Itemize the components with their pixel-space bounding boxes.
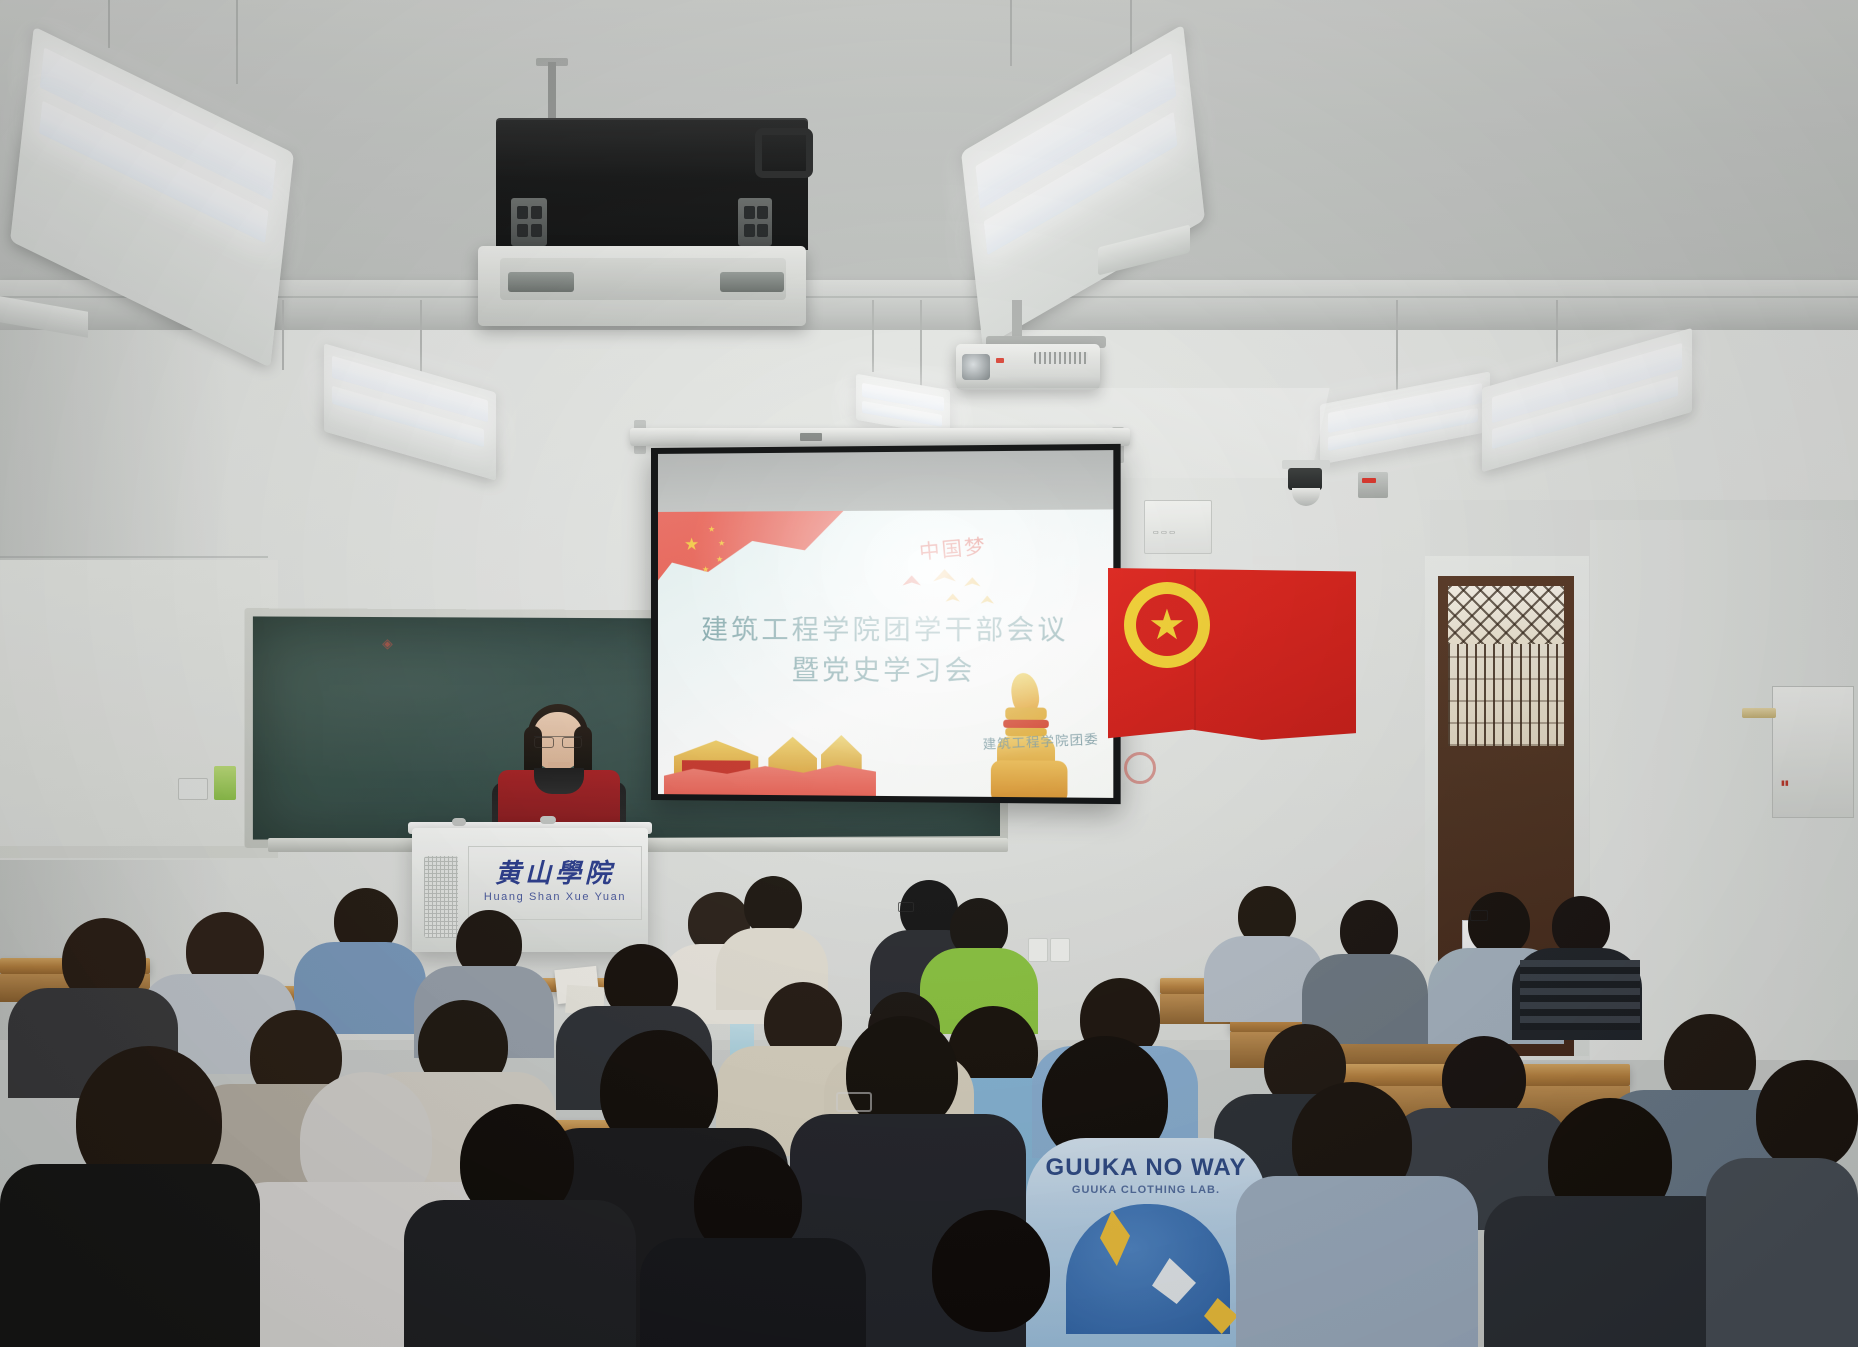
ceiling-seam: [0, 296, 1858, 298]
emblem-inner-disc: ★: [1136, 594, 1198, 656]
projector-lens: [962, 354, 990, 380]
projection-screen-surface: ★ ★ ★ ★ ★ 中国梦: [658, 450, 1113, 798]
door-security-grill: [1448, 586, 1564, 644]
dove-icon: [981, 596, 994, 604]
slide-motto: 中国梦: [918, 530, 988, 565]
light-switch-plate[interactable]: [178, 778, 208, 800]
projection-screen[interactable]: ★ ★ ★ ★ ★ 中国梦: [651, 444, 1121, 804]
wall-seam-left: [0, 556, 268, 558]
power-strip: [511, 198, 547, 246]
dove-icon: [903, 575, 921, 585]
lectern-knob[interactable]: [540, 816, 556, 824]
audience-head: [1468, 892, 1530, 956]
lamp-wire: [1010, 0, 1012, 66]
hoodie-text-line1: GUUKA NO WAY: [1026, 1154, 1266, 1182]
alarm-led-icon: [1362, 478, 1376, 483]
eyeglasses-icon: [836, 1092, 872, 1112]
power-strip-secondary: [738, 198, 772, 246]
roller-badge: [800, 433, 822, 441]
left-wall-panel: [0, 560, 278, 860]
dove-icon: [946, 594, 960, 602]
ac-louver-left: [508, 272, 574, 292]
audience-body: [0, 1164, 260, 1347]
speaker-glasses-icon: [534, 736, 582, 747]
dove-icon: [964, 577, 980, 586]
lamp-wire: [282, 300, 284, 370]
lamp-wire: [108, 0, 110, 48]
lamp-wire: [236, 0, 238, 84]
camera-mount: [1288, 468, 1322, 490]
slide-title-line1: 建筑工程学院团学干部会议: [658, 608, 1113, 648]
lectern-speaker-grille: [424, 856, 458, 938]
dove-icon: [933, 569, 956, 581]
screen-unlit-band: [658, 450, 1113, 512]
eyeglasses-icon: [898, 902, 914, 912]
ac-louver-right: [720, 272, 784, 292]
wallbox-label: ▮▮: [1781, 779, 1789, 787]
university-name-en: Huang Shan Xue Yuan: [469, 891, 641, 903]
speaker-collar: [534, 768, 584, 794]
slide-signature: 建筑工程学院团委: [982, 728, 1099, 753]
audience-body: [1706, 1158, 1858, 1347]
eyeglasses-icon: [1470, 910, 1488, 921]
lamp-wire: [920, 300, 922, 386]
tiananmen-graphic: [664, 702, 876, 798]
presentation-slide: ★ ★ ★ ★ ★ 中国梦: [658, 509, 1113, 798]
chinese-flag-graphic: [658, 509, 849, 624]
youth-league-emblem: ★: [1124, 582, 1210, 668]
ac-handle: [755, 128, 813, 178]
audience-head: [932, 1210, 1050, 1332]
lectern-knob[interactable]: [452, 818, 466, 826]
wall-control-panel[interactable]: ▭ ▭ ▭: [1144, 500, 1212, 554]
left-panel-rail: [0, 846, 278, 858]
wall-outlet[interactable]: [1050, 938, 1070, 962]
audience-body: [640, 1238, 866, 1347]
audience-head: [1552, 896, 1610, 956]
wall-outlet[interactable]: [1028, 938, 1048, 962]
lamp-wire: [1556, 300, 1558, 362]
star-icon: ★: [1148, 604, 1186, 646]
hoodie-text-line2: GUUKA CLOTHING LAB.: [1026, 1184, 1266, 1196]
audience-body: [1484, 1196, 1742, 1347]
audience-hoodie: GUUKA NO WAY GUUKA CLOTHING LAB.: [1026, 1138, 1266, 1347]
flag-star-large: ★: [684, 536, 699, 553]
ac-mount-rod: [548, 62, 556, 124]
projector-vent: [1034, 352, 1088, 364]
classroom-photo: ◈ ★ ★ ★ ★ ★ 中国梦: [0, 0, 1858, 1347]
panel-label: ▭ ▭ ▭: [1153, 529, 1175, 536]
audience-body: [404, 1200, 636, 1347]
slide-title-line2: 暨党史学习会: [658, 648, 1113, 688]
audience-head: [1756, 1060, 1858, 1170]
lectern-nameplate: 黄山學院 Huang Shan Xue Yuan: [468, 846, 642, 920]
electrical-wall-box[interactable]: ▮▮: [1772, 686, 1854, 818]
plaid-shirt: [1520, 960, 1640, 1030]
flag-star-small: ★: [716, 556, 723, 564]
no-smoking-icon: [1124, 752, 1156, 784]
projection-screen-roller[interactable]: [630, 428, 1130, 446]
flag-star-small: ★: [702, 566, 709, 574]
lamp-wire: [1396, 300, 1398, 390]
audience-head: [1340, 900, 1398, 962]
university-name-cn: 黄山學院: [469, 853, 641, 890]
blackboard-chalk-mark: ◈: [382, 636, 393, 652]
wall-note: [214, 766, 236, 800]
wallbox-handle[interactable]: [1742, 708, 1776, 718]
alarm-panel[interactable]: [1358, 472, 1388, 498]
audience-head: [744, 876, 802, 936]
flag-star-small: ★: [718, 540, 725, 548]
projector-power-led: [996, 358, 1004, 363]
flag-star-small: ★: [708, 526, 715, 534]
audience-body: [1236, 1176, 1478, 1347]
lamp-wire: [872, 300, 874, 372]
